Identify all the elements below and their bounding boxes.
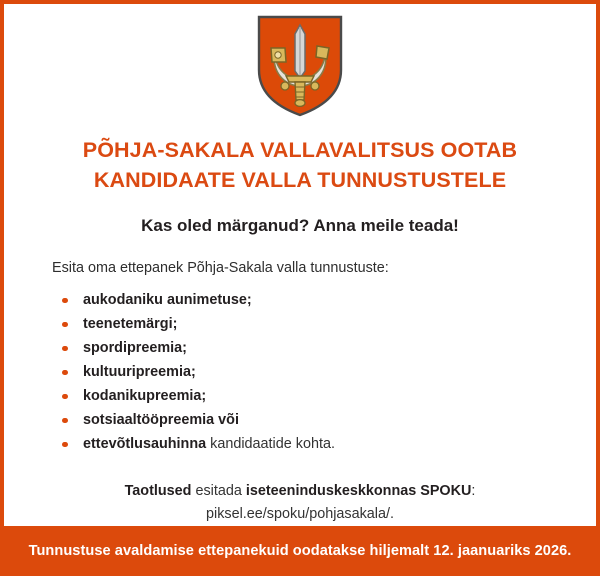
list-item: sotsiaaltööpreemia või — [62, 408, 596, 432]
list-item-label: spordipreemia; — [83, 340, 187, 356]
page-title-line-1: PÕHJA-SAKALA VALLAVALITSUS OOTAB — [44, 136, 556, 166]
bullet-dot-icon — [62, 442, 68, 448]
intro-text: Esita oma ettepanek Põhja-Sakala valla t… — [52, 259, 596, 278]
list-item: teenetemärgi; — [62, 312, 596, 336]
deadline-text: Tunnustuse avaldamise ettepanekuid oodat… — [15, 543, 586, 559]
page-title: PÕHJA-SAKALA VALLAVALITSUS OOTAB KANDIDA… — [44, 136, 556, 195]
bullet-dot-icon — [62, 346, 68, 352]
apply-connector: esitada — [191, 483, 245, 499]
list-item-tail: kandidaatide kohta. — [206, 436, 335, 452]
list-item-label: teenetemärgi; — [83, 316, 177, 332]
apply-keyword: Taotlused — [125, 483, 192, 499]
list-item: ettevõtlusauhinna kandidaatide kohta. — [62, 432, 596, 456]
list-item-label: kultuuripreemia; — [83, 364, 196, 380]
apply-service-name: iseteeninduskeskkonnas SPOKU — [246, 483, 472, 499]
application-instructions: Taotlused esitada iseteeninduskeskkonnas… — [34, 480, 566, 527]
bullet-dot-icon — [62, 394, 68, 400]
list-item: aukodaniku aunimetuse; — [62, 288, 596, 312]
apply-url[interactable]: piksel.ee/spoku/pohjasakala/. — [34, 503, 566, 526]
list-item-label: sotsiaaltööpreemia või — [83, 412, 239, 428]
list-item: kodanikupreemia; — [62, 384, 596, 408]
poster-root: PÕHJA-SAKALA VALLAVALITSUS OOTAB KANDIDA… — [0, 0, 600, 576]
list-item: kultuuripreemia; — [62, 360, 596, 384]
bullet-dot-icon — [62, 418, 68, 424]
bullet-dot-icon — [62, 370, 68, 376]
list-item-label: ettevõtlusauhinna — [83, 436, 206, 452]
subtitle: Kas oled märganud? Anna meile teada! — [34, 215, 566, 237]
coat-of-arms-shield-sword-horn — [255, 14, 345, 118]
list-item-label: aukodaniku aunimetuse; — [83, 292, 252, 308]
bullet-dot-icon — [62, 322, 68, 328]
award-category-list: aukodaniku aunimetuse; teenetemärgi; spo… — [4, 288, 596, 456]
bullet-dot-icon — [62, 298, 68, 304]
deadline-footer-bar: Tunnustuse avaldamise ettepanekuid oodat… — [0, 526, 600, 576]
list-item: spordipreemia; — [62, 336, 596, 360]
apply-colon: : — [471, 483, 475, 499]
crest-container — [4, 4, 596, 118]
page-title-line-2: KANDIDAATE VALLA TUNNUSTUSTELE — [44, 166, 556, 196]
list-item-label: kodanikupreemia; — [83, 388, 206, 404]
